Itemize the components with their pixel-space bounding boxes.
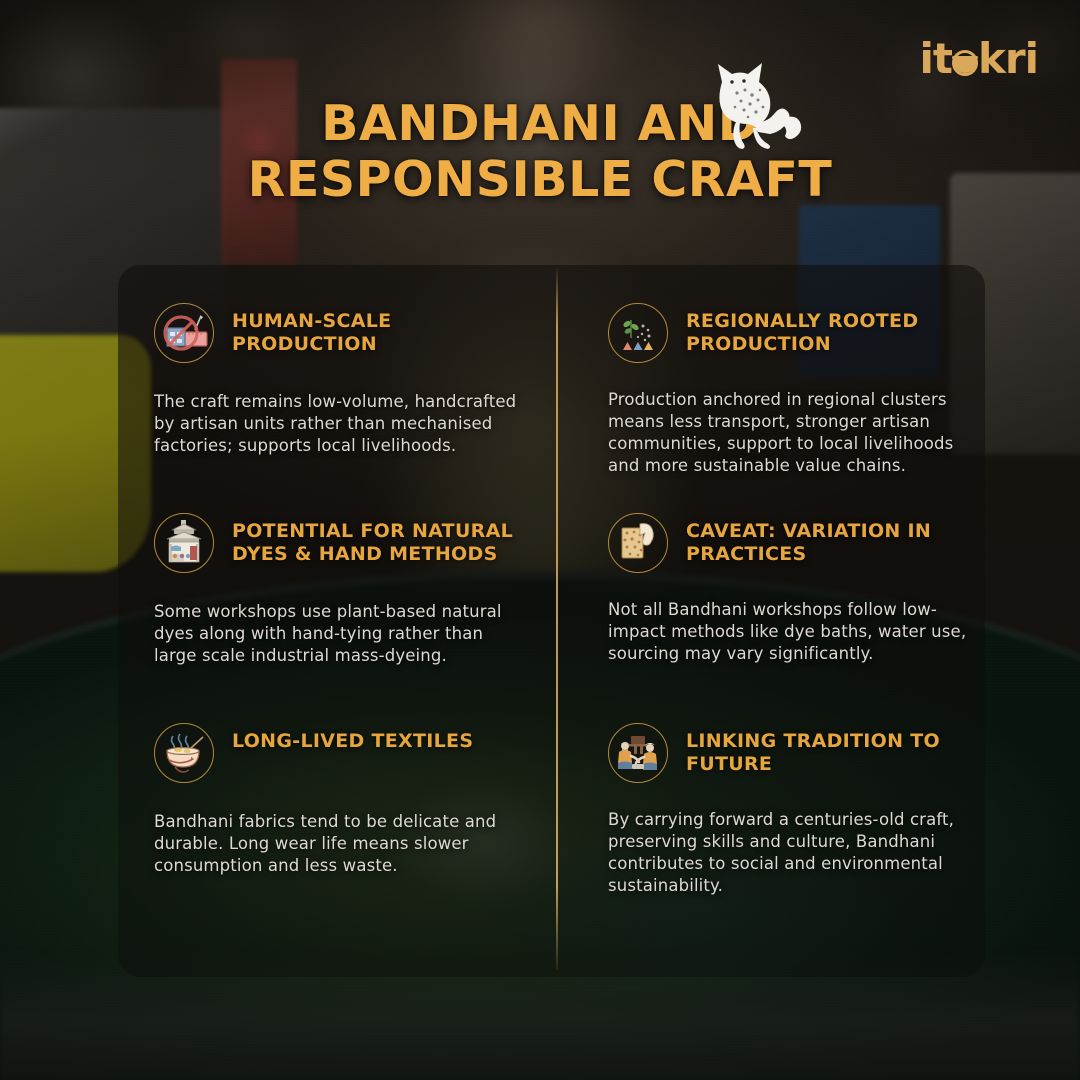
- card-body: Production anchored in regional clusters…: [608, 389, 971, 477]
- card-body: Not all Bandhani workshops follow low-im…: [608, 599, 971, 665]
- card-body: By carrying forward a centuries-old craf…: [608, 809, 971, 897]
- card-title: LINKING TRADITION TO FUTURE: [686, 723, 971, 776]
- steaming-dye-pot-icon: [154, 723, 214, 783]
- cat-icon: [688, 52, 808, 157]
- page-title: BANDHANI AND RESPONSIBLE CRAFT: [0, 96, 1080, 208]
- card-header: POTENTIAL FOR NATURAL DYES & HAND METHOD…: [154, 513, 528, 573]
- card-header: REGIONALLY ROOTED PRODUCTION: [608, 303, 971, 363]
- craft-shop-icon: [154, 513, 214, 573]
- card-natural-dyes-hand-methods: POTENTIAL FOR NATURAL DYES & HAND METHOD…: [118, 475, 556, 685]
- card-body: Bandhani fabrics tend to be delicate and…: [154, 811, 528, 877]
- card-header: CAVEAT: VARIATION IN PRACTICES: [608, 513, 971, 573]
- brand-logo-text-it: it: [919, 34, 951, 83]
- card-body: The craft remains low-volume, handcrafte…: [154, 391, 528, 457]
- hand-holding-patterned-fabric-icon: [608, 513, 668, 573]
- no-factory-icon: [154, 303, 214, 363]
- card-header: LINKING TRADITION TO FUTURE: [608, 723, 971, 783]
- card-body: Some workshops use plant-based natural d…: [154, 601, 528, 667]
- card-regionally-rooted-production: REGIONALLY ROOTED PRODUCTION Production …: [556, 265, 985, 475]
- page-title-line-1: BANDHANI AND: [120, 96, 960, 152]
- card-title: POTENTIAL FOR NATURAL DYES & HAND METHOD…: [232, 513, 528, 566]
- card-caveat-variation-in-practices: CAVEAT: VARIATION IN PRACTICES Not all B…: [556, 475, 985, 685]
- brand-logo[interactable]: it kri: [919, 38, 1038, 80]
- page-title-line-2: RESPONSIBLE CRAFT: [120, 152, 960, 208]
- card-header: HUMAN-SCALE PRODUCTION: [154, 303, 528, 363]
- card-long-lived-textiles: LONG-LIVED TEXTILES Bandhani fabrics ten…: [118, 685, 556, 895]
- plants-sprouts-icon: [608, 303, 668, 363]
- card-title: CAVEAT: VARIATION IN PRACTICES: [686, 513, 971, 566]
- basket-icon: [952, 50, 978, 76]
- brand-logo-text-kri: kri: [978, 34, 1038, 83]
- card-human-scale-production: HUMAN-SCALE PRODUCTION The craft remains…: [118, 265, 556, 475]
- card-header: LONG-LIVED TEXTILES: [154, 723, 528, 783]
- card-title: HUMAN-SCALE PRODUCTION: [232, 303, 528, 356]
- benefits-grid: HUMAN-SCALE PRODUCTION The craft remains…: [118, 265, 985, 977]
- card-title: LONG-LIVED TEXTILES: [232, 723, 473, 753]
- card-title: REGIONALLY ROOTED PRODUCTION: [686, 303, 971, 356]
- card-linking-tradition-to-future: LINKING TRADITION TO FUTURE By carrying …: [556, 685, 985, 895]
- two-artisans-icon: [608, 723, 668, 783]
